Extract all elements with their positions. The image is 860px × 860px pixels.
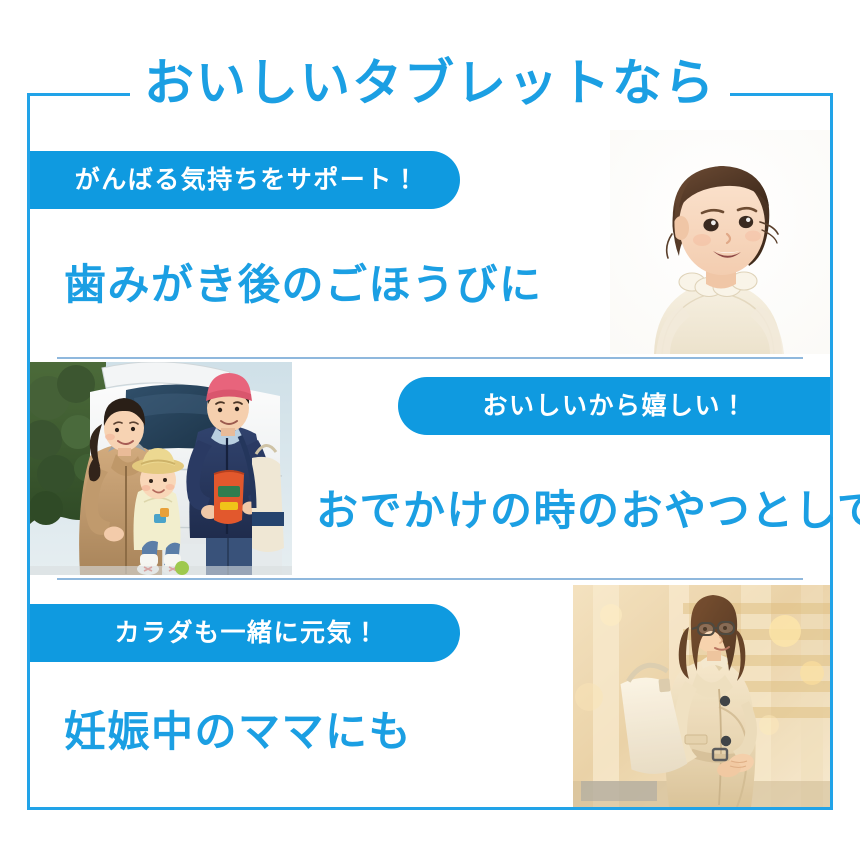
badge-label: カラダも一緒に元気！ (114, 621, 379, 646)
title-row: おいしいタブレットなら (0, 52, 860, 114)
badge-label: がんばる気持ちをサポート！ (75, 168, 420, 193)
headline-section-2: おでかけの時のおやつとして (316, 490, 860, 532)
photo-pregnant-woman (573, 585, 830, 807)
badge-section-2: おいしいから嬉しい！ (398, 377, 830, 435)
headline-section-1: 歯みがき後のごほうびに (64, 264, 543, 306)
page-title: おいしいタブレットなら (130, 58, 730, 108)
badge-label: おいしいから嬉しい！ (482, 394, 747, 419)
badge-section-3: カラダも一緒に元気！ (30, 604, 460, 662)
section-divider-1 (57, 357, 803, 359)
poster-root: おいしいタブレットなら がんばる気持ちをサポート！ 歯みがき後のごほうびに (0, 0, 860, 860)
badge-section-1: がんばる気持ちをサポート！ (30, 151, 460, 209)
headline-section-3: 妊娠中のママにも (64, 711, 412, 753)
photo-toddler (610, 130, 830, 354)
photo-family-outing (30, 362, 292, 575)
section-divider-2 (57, 578, 803, 580)
